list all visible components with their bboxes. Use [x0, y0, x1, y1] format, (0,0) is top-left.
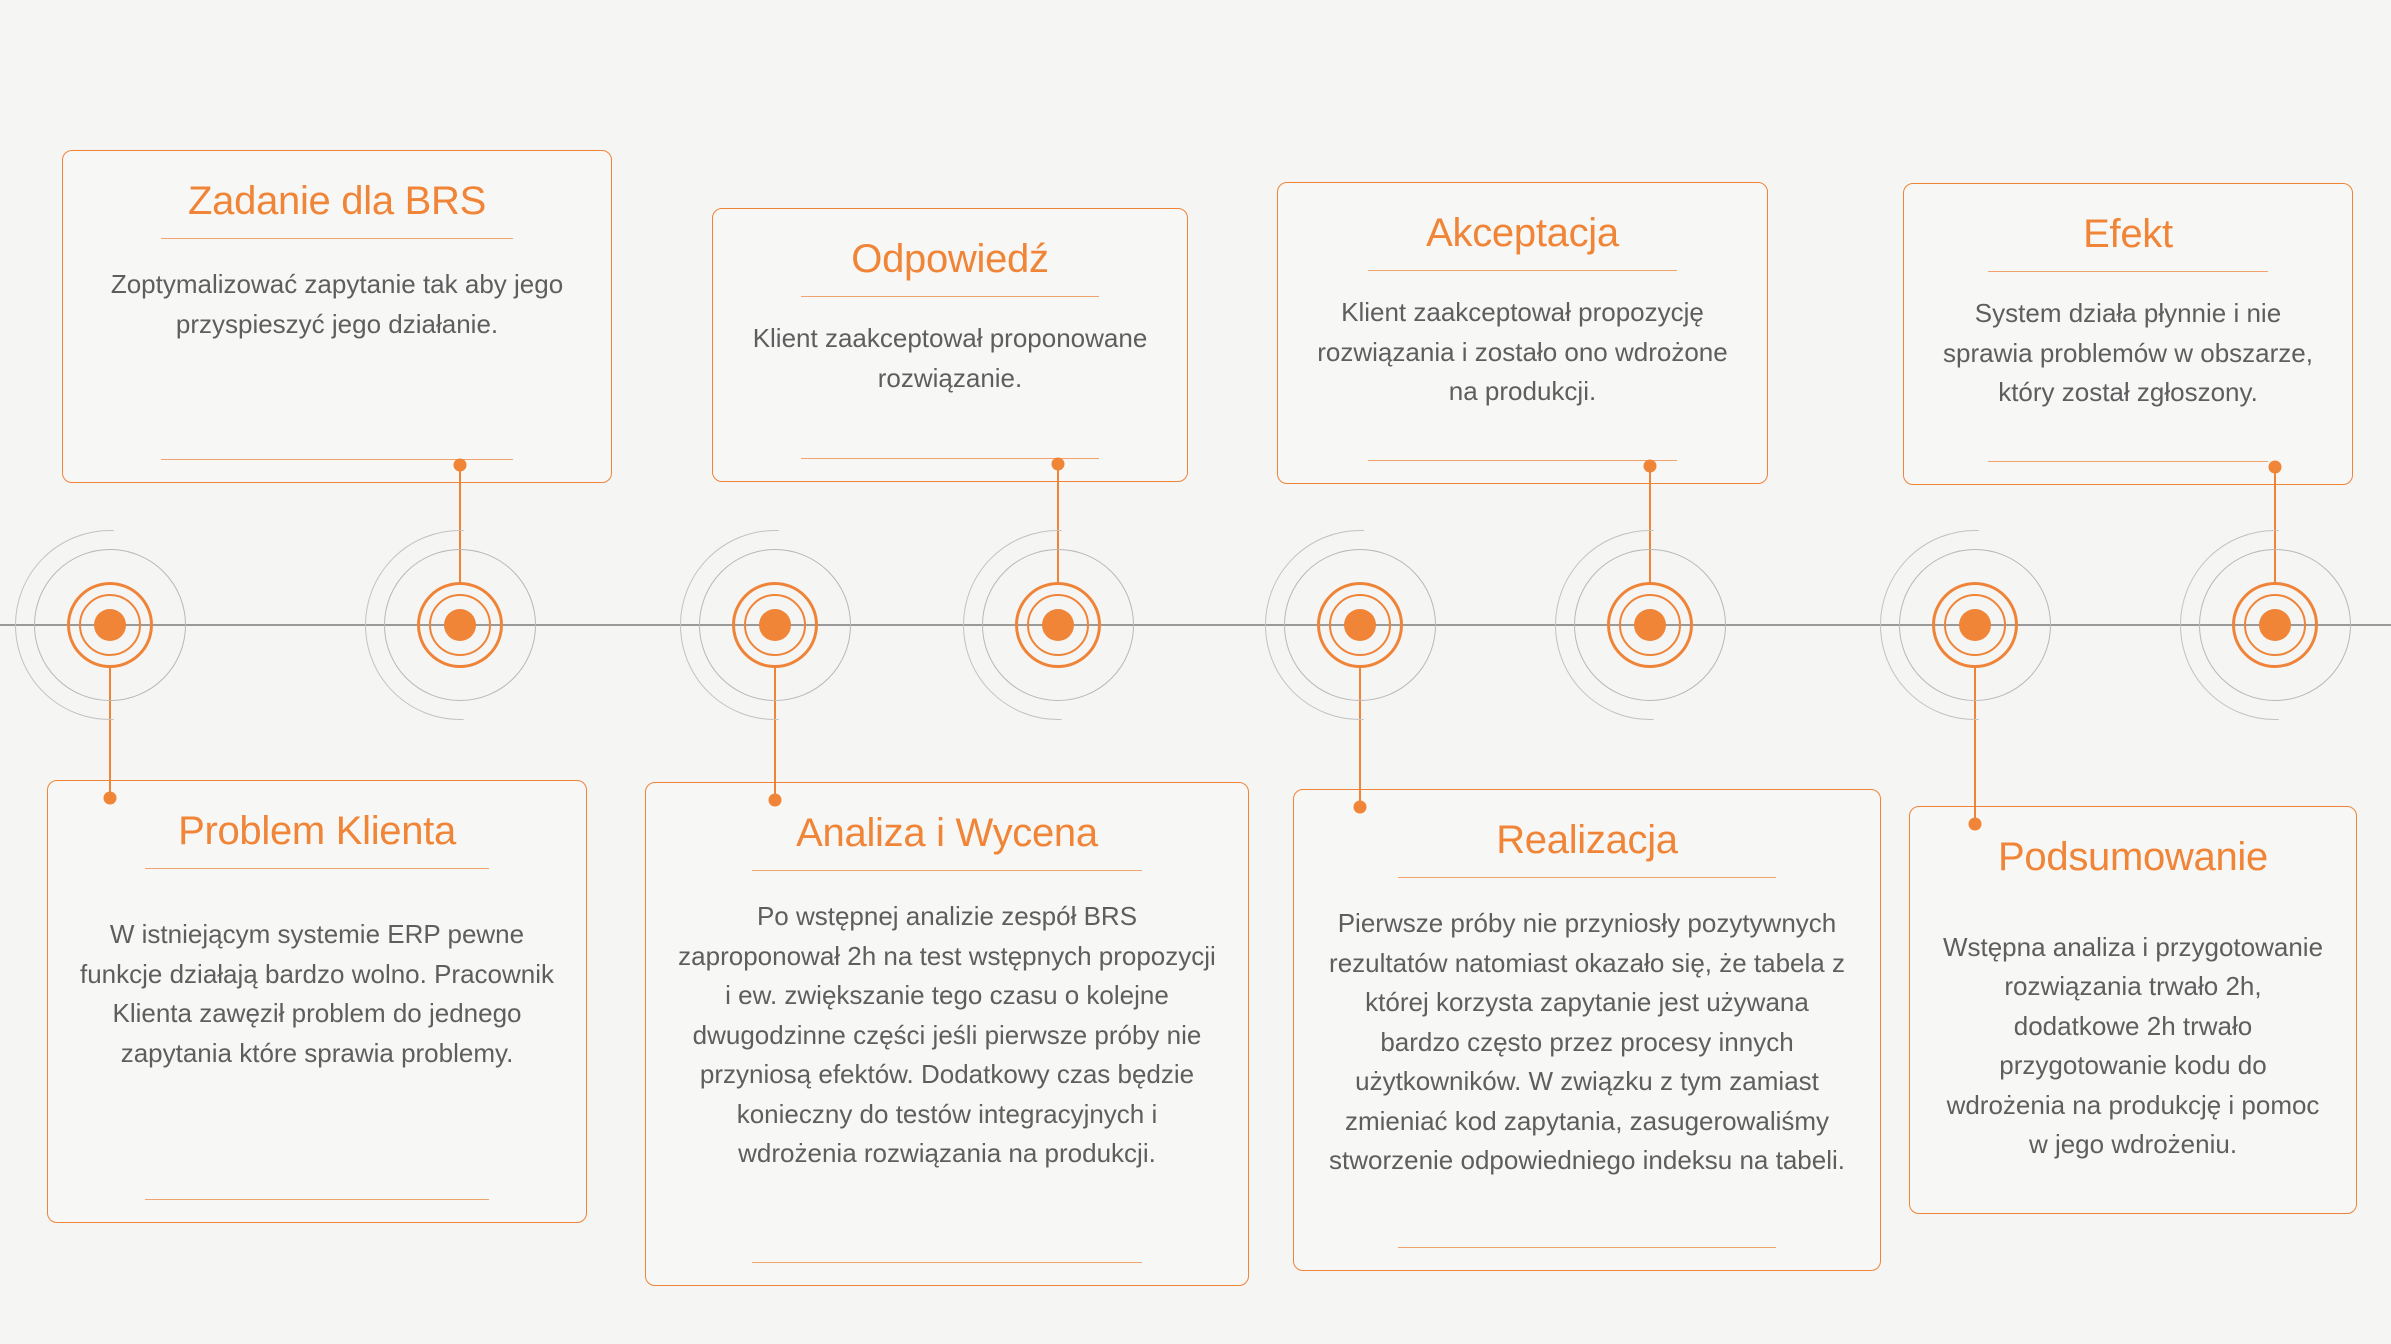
- marker-ring-core-icon: [444, 609, 476, 641]
- card-title: Realizacja: [1496, 818, 1678, 863]
- card-body: Klient zaakceptował propozycję rozwiązan…: [1308, 293, 1737, 412]
- marker-ring-core-icon: [1959, 609, 1991, 641]
- bottom-divider: [1368, 460, 1677, 461]
- title-divider: [752, 870, 1142, 871]
- connector-dot-zadanie: [454, 459, 467, 472]
- card-body: Pierwsze próby nie przyniosły pozytywnyc…: [1324, 904, 1850, 1181]
- marker-ring-core-icon: [94, 609, 126, 641]
- card-akceptacja[interactable]: Akceptacja Klient zaakceptował propozycj…: [1277, 182, 1768, 484]
- connector-dot-akceptacja: [1644, 460, 1657, 473]
- card-odpowiedz[interactable]: Odpowiedź Klient zaakceptował proponowan…: [712, 208, 1188, 482]
- bottom-divider: [1988, 461, 2267, 462]
- connector-dot-podsumowanie: [1969, 818, 1982, 831]
- card-title: Podsumowanie: [1998, 835, 2268, 880]
- connector-dot-analiza: [769, 794, 782, 807]
- card-title: Efekt: [2083, 212, 2173, 257]
- marker-ring-core-icon: [1344, 609, 1376, 641]
- connector-dot-odpowiedz: [1052, 458, 1065, 471]
- card-title: Problem Klienta: [178, 809, 456, 854]
- card-body: W istniejącym systemie ERP pewne funkcje…: [78, 915, 556, 1073]
- card-body: Klient zaakceptował proponowane rozwiąza…: [743, 319, 1157, 398]
- title-divider: [801, 296, 1099, 297]
- marker-ring-core-icon: [759, 609, 791, 641]
- card-efekt[interactable]: Efekt System działa płynnie i nie sprawi…: [1903, 183, 2353, 485]
- card-title: Akceptacja: [1426, 211, 1619, 256]
- card-body: Zoptymalizować zapytanie tak aby jego pr…: [93, 265, 581, 344]
- bottom-divider: [145, 1199, 489, 1200]
- connector-dot-efekt: [2269, 461, 2282, 474]
- marker-ring-core-icon: [2259, 609, 2291, 641]
- title-divider: [1988, 271, 2267, 272]
- card-body: System działa płynnie i nie sprawia prob…: [1934, 294, 2322, 413]
- card-realizacja[interactable]: Realizacja Pierwsze próby nie przyniosły…: [1293, 789, 1881, 1271]
- card-title: Zadanie dla BRS: [188, 179, 486, 224]
- title-divider: [1398, 877, 1777, 878]
- timeline-diagram: Zadanie dla BRS Zoptymalizować zapytanie…: [0, 0, 2391, 1344]
- card-title: Analiza i Wycena: [796, 811, 1098, 856]
- marker-ring-core-icon: [1042, 609, 1074, 641]
- bottom-divider: [752, 1262, 1142, 1263]
- card-body: Wstępna analiza i przygotowanie rozwiąza…: [1940, 928, 2326, 1165]
- card-body: Po wstępnej analizie zespół BRS zapropon…: [676, 897, 1218, 1174]
- card-problem-klienta[interactable]: Problem Klienta W istniejącym systemie E…: [47, 780, 587, 1223]
- connector-dot-realizacja: [1354, 801, 1367, 814]
- marker-ring-core-icon: [1634, 609, 1666, 641]
- card-analiza-i-wycena[interactable]: Analiza i Wycena Po wstępnej analizie ze…: [645, 782, 1249, 1286]
- title-divider: [1368, 270, 1677, 271]
- title-divider: [161, 238, 512, 239]
- card-title: Odpowiedź: [851, 237, 1048, 282]
- card-zadanie-dla-brs[interactable]: Zadanie dla BRS Zoptymalizować zapytanie…: [62, 150, 612, 483]
- title-divider: [145, 868, 489, 869]
- connector-dot-problem: [104, 792, 117, 805]
- card-podsumowanie[interactable]: Podsumowanie Wstępna analiza i przygotow…: [1909, 806, 2357, 1214]
- bottom-divider: [1398, 1247, 1777, 1248]
